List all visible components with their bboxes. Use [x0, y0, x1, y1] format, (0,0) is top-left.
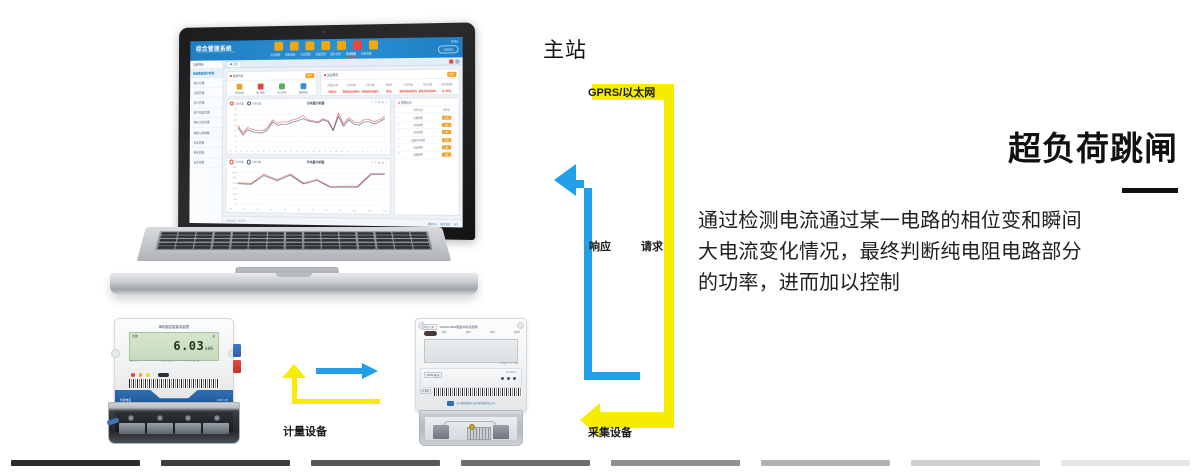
footer-link-2[interactable]: 关于	[454, 222, 459, 226]
sidebar-item-6[interactable]: 抄表管理	[190, 138, 222, 148]
bottom-gradient-bars	[0, 458, 1200, 468]
keyboard-key[interactable]	[194, 243, 211, 246]
col-index	[395, 107, 402, 114]
metering-arrow-svg	[268, 362, 388, 412]
home-button[interactable]: 回到首页	[438, 45, 458, 53]
keyboard-key[interactable]	[231, 239, 248, 242]
x-tick-label: 10	[230, 150, 232, 152]
keyboard-key[interactable]	[286, 239, 303, 242]
keyboard-key[interactable]	[268, 239, 285, 242]
screw-icon	[214, 415, 220, 421]
status-badge: 10条	[441, 115, 451, 119]
alert-table: 预警类型 预警值 1欠费预警10条2停电预警3条3窃电预警5条4设备异常预警20…	[395, 106, 459, 159]
keyboard-key[interactable]	[249, 239, 266, 242]
x-tick-label: 5月	[284, 209, 287, 212]
x-tick-label: 24	[307, 150, 309, 152]
x-tick-label: 6月	[297, 209, 300, 212]
tab-home[interactable]: 主页	[226, 61, 241, 67]
collector-kwh-label: K-2W	[420, 389, 431, 394]
table-row[interactable]: 2停电预警3条	[395, 121, 458, 129]
keyboard-key[interactable]	[250, 232, 267, 235]
master-station-label: 主站	[543, 34, 587, 64]
keyboard-key[interactable]	[232, 232, 249, 235]
keyboard-key[interactable]	[286, 246, 303, 249]
keyboard-key[interactable]	[160, 235, 177, 238]
x-tick-label: 8月	[325, 209, 328, 212]
row-value: 10条	[434, 113, 458, 121]
keyboard-key[interactable]	[321, 232, 338, 235]
row-index: 2	[395, 121, 402, 128]
terminal-lug	[175, 423, 201, 434]
header-user: 管理员	[438, 39, 458, 43]
stat-5: 月售电量 8520kWh	[418, 82, 437, 93]
legend-marker-icon	[229, 160, 233, 164]
infrared-port-icon	[158, 373, 169, 377]
keyboard-key[interactable]	[214, 232, 231, 235]
meter-reading-unit: kWh	[205, 346, 214, 351]
calendar-icon[interactable]	[306, 41, 315, 50]
stats-card-more-button[interactable]: 更多	[447, 71, 456, 76]
daily-chart-legend: 日用电量 日售电量	[229, 101, 261, 106]
keyboard-key[interactable]	[214, 235, 231, 238]
x-tick-label: 16	[263, 150, 265, 152]
row-type: 窃电预警	[402, 129, 434, 137]
keyboard-key[interactable]	[413, 243, 430, 246]
keyboard-key[interactable]	[249, 246, 266, 249]
collector-infrared-icon	[424, 331, 437, 336]
keyboard-key[interactable]	[304, 243, 321, 246]
x-tick-label: 26	[318, 150, 320, 152]
currency-icon[interactable]	[274, 42, 283, 51]
keyboard-key[interactable]	[268, 235, 285, 238]
row-type: 设备异常预警	[402, 136, 434, 144]
keyboard-key[interactable]	[322, 239, 339, 242]
keyboard-key[interactable]	[268, 232, 284, 235]
footer-link-0[interactable]: 帮助中心	[428, 221, 438, 225]
keyboard-key[interactable]	[195, 239, 212, 242]
y-tick-label: 300	[232, 172, 237, 174]
legend-item-1[interactable]: 日售电量	[247, 101, 262, 106]
gridline	[238, 204, 385, 206]
undo-icon[interactable]: ↺	[374, 101, 376, 104]
sidebar-item-7[interactable]: 费率管理	[190, 148, 222, 158]
laptop-illustration: 综合管理系统 COMPREHENSIVE MANAGEMENT SYSTEM	[108, 25, 480, 300]
yellow-request-arrow	[580, 84, 674, 437]
nav-item-6[interactable]: 系统管理	[361, 51, 371, 57]
keyboard-key[interactable]	[358, 239, 375, 242]
refresh-icon[interactable]	[455, 59, 459, 63]
meter-button-group	[233, 344, 241, 373]
quick-card-more-button[interactable]: 更多	[305, 73, 313, 78]
refresh-icon[interactable]: ↻	[371, 161, 373, 164]
status-badge: 5条	[442, 130, 451, 134]
dashboard-sidebar: 功能导航 基础数据维护管理 用户管理 台区管理 表计管理 客户档案管理 电价方案…	[189, 60, 223, 223]
y-tick-label: 35	[234, 108, 238, 110]
response-label: 响应	[589, 240, 603, 254]
monthly-chart-title: 月电量分析图	[306, 160, 324, 164]
pulse-led-icon	[139, 373, 143, 377]
keyboard-key[interactable]	[340, 235, 357, 238]
keyboard-key[interactable]	[339, 232, 356, 235]
export-icon[interactable]: ⇩	[385, 161, 387, 164]
meter-lcd: 当前 总 6.03kWh	[129, 332, 219, 361]
brand-logo-icon	[447, 401, 454, 406]
meter-shell: 单相费控智能电能表 当前 总 6.03kWh 本表符合 GB/T 17215.3…	[114, 318, 234, 406]
shortcut-3[interactable]: 数据报送	[299, 83, 308, 95]
footer-link-1[interactable]: 联系我们	[441, 221, 451, 225]
row-type: 停电预警	[402, 121, 434, 129]
quick-card-title: 快捷方式	[230, 74, 244, 78]
collector-module-panel: GPRS 模 块 信号指示灯	[420, 368, 522, 388]
terminal-lug	[147, 423, 173, 434]
keyboard-key[interactable]	[376, 243, 393, 246]
keyboard-key[interactable]	[286, 243, 303, 246]
meter-barcode	[129, 379, 219, 388]
keyboard-key[interactable]	[286, 235, 302, 238]
x-tick-label: 2	[357, 151, 358, 153]
x-tick-label: 13	[246, 150, 248, 152]
keyboard-key[interactable]	[231, 246, 248, 249]
keyboard-key[interactable]	[158, 243, 175, 246]
stat-0-value: 98%	[328, 88, 336, 93]
keyboard-key[interactable]	[161, 232, 178, 235]
x-tick-label: 11	[235, 150, 237, 152]
quick-access-card: 快捷方式 更多 常用功能	[226, 70, 317, 96]
body-line-2: 的功率，进而加以控制	[698, 268, 1168, 299]
meter-screw-row	[117, 415, 231, 421]
legend-item-0[interactable]: 月用电量	[229, 160, 243, 165]
x-tick-label: 4	[367, 151, 368, 153]
keyboard-key[interactable]	[176, 243, 193, 246]
meter-lcd-label: 当前	[132, 334, 138, 338]
tab-tools	[449, 59, 459, 63]
shortcut-1-label: 客户服务	[256, 90, 265, 94]
keyboard-key[interactable]	[322, 243, 339, 246]
shortcut-1[interactable]: 客户服务	[256, 83, 265, 94]
keyboard-key[interactable]	[178, 235, 195, 238]
alert-table-body: 1欠费预警10条2停电预警3条3窃电预警5条4设备异常预警20条5过载预警2条6…	[395, 113, 459, 158]
bottom-bar	[761, 460, 890, 466]
stat-2-value: 4540kWh	[361, 88, 378, 93]
keyboard-key[interactable]	[377, 246, 394, 249]
header-nav: 营业收费 数据采集 日常管理 表箱管理 统计分析 基础数据 系统管理	[270, 51, 371, 58]
bottom-bar	[311, 460, 440, 466]
channel-label-1: 通道二	[466, 331, 472, 334]
gridline	[238, 183, 385, 184]
stat-3-value: 5%	[386, 88, 392, 93]
table-row[interactable]: 1欠费预警10条	[395, 113, 458, 121]
collector-barcode	[434, 388, 522, 396]
keyboard-key[interactable]	[322, 235, 339, 238]
keyboard-key[interactable]	[196, 235, 213, 238]
keyboard-key[interactable]	[340, 239, 357, 242]
x-tick-label: 27	[324, 151, 326, 153]
daily-chart-title: 日电量分析图	[307, 101, 325, 105]
stats-card-title: 运营概况	[324, 73, 339, 77]
bottom-bar-cell	[1050, 458, 1200, 468]
keyboard-key[interactable]	[395, 243, 412, 246]
footer-center-text: 技术支持：XXXXX	[226, 218, 245, 222]
collector-terminal-inner	[425, 417, 517, 440]
y-tick-label: 0	[235, 204, 237, 206]
keyboard-key[interactable]	[413, 246, 430, 249]
meter-lcd-unit: 总	[212, 334, 215, 338]
x-tick-label: 10月	[353, 210, 357, 213]
stat-3-label: 线损率	[386, 82, 393, 86]
gridline	[238, 108, 385, 109]
meter-terminal-block	[108, 402, 240, 444]
x-tick-label: 3月	[256, 208, 259, 211]
keyboard-key[interactable]	[358, 243, 375, 246]
bottom-bar-cell	[0, 458, 150, 468]
stat-6: 当月线损率 4.5%	[437, 82, 456, 93]
header-icon-group	[274, 40, 378, 51]
keyboard-key[interactable]	[410, 232, 427, 235]
currency-icon	[237, 83, 243, 89]
sidebar-item-2[interactable]: 表计管理	[190, 98, 222, 108]
phone-icon	[258, 83, 264, 89]
nav-item-3[interactable]: 表箱管理	[315, 52, 325, 58]
keyboard-key[interactable]	[232, 235, 249, 238]
row-value: 1条	[434, 151, 458, 159]
legend-item-0[interactable]: 日用电量	[229, 101, 243, 105]
x-tick-label: 19	[279, 150, 281, 152]
row-index: 3	[395, 129, 402, 136]
stat-1: 日用电量 5000kWh	[342, 83, 361, 94]
keyboard-key[interactable]	[357, 235, 374, 238]
shortcut-2[interactable]: 统计分析	[277, 83, 286, 94]
keyboard-row	[160, 235, 428, 238]
page-headline: 超负荷跳闸	[1008, 122, 1178, 170]
keyboard-key[interactable]	[157, 246, 174, 249]
footer-links: 帮助中心 联系我们 关于	[428, 221, 459, 226]
sidebar-item-8[interactable]: 业务管理	[190, 158, 222, 168]
dashboard-header: 综合管理系统 COMPREHENSIVE MANAGEMENT SYSTEM	[190, 37, 462, 61]
status-led-icon	[146, 373, 150, 377]
close-icon[interactable]	[449, 59, 453, 63]
keyboard-key[interactable]	[179, 232, 196, 235]
stat-5-label: 月售电量	[423, 82, 432, 86]
x-tick-label: 7月	[311, 209, 314, 212]
bar-icon[interactable]: ▩	[378, 161, 380, 164]
body-line-1: 大电流变化情况，最终判断纯电阻电路部分	[698, 237, 1168, 268]
gridline	[238, 199, 385, 201]
daily-chart-svg: 05101520253035	[230, 106, 387, 148]
nav-item-2[interactable]: 日常管理	[300, 52, 310, 58]
bottom-bar-cell	[450, 458, 600, 468]
settings-icon[interactable]	[369, 40, 378, 49]
series-line-1	[238, 174, 385, 188]
refresh-icon[interactable]: ↻	[371, 101, 373, 104]
legend-0-label: 月用电量	[234, 160, 243, 164]
table-row[interactable]: 4设备异常预警20条	[395, 136, 459, 144]
keyboard-key[interactable]	[304, 239, 321, 242]
legend-item-1[interactable]: 月售电量	[246, 160, 261, 165]
gridline	[238, 172, 385, 173]
chart-icon	[279, 83, 285, 89]
mail-icon[interactable]	[353, 41, 362, 50]
keyboard-key[interactable]	[393, 235, 410, 238]
table-row[interactable]: 6表箱预警1条	[395, 151, 459, 159]
row-index: 6	[395, 151, 402, 159]
row-value: 5条	[434, 129, 458, 137]
y-tick-label: 350	[232, 167, 237, 169]
y-tick-label: 20	[234, 125, 238, 127]
x-tick-label: 17	[268, 150, 270, 152]
row-type: 欠费预警	[402, 114, 434, 122]
keyboard-key[interactable]	[394, 239, 411, 242]
channel-label-3: 通道四	[514, 331, 520, 334]
x-tick-label: 3	[362, 151, 363, 153]
keyboard-key[interactable]	[304, 232, 320, 235]
keyboard-key[interactable]	[357, 232, 374, 235]
keyboard-key[interactable]	[196, 232, 213, 235]
nav-item-0[interactable]: 营业收费	[270, 53, 280, 59]
keyboard-key[interactable]	[376, 239, 393, 242]
electric-meter-illustration: 单相费控智能电能表 当前 总 6.03kWh 本表符合 GB/T 17215.3…	[108, 318, 240, 446]
keyboard-key[interactable]	[250, 235, 267, 238]
legend-0-label: 日用电量	[235, 101, 244, 105]
meter-body: 单相费控智能电能表 当前 总 6.03kWh 本表符合 GB/T 17215.3…	[108, 318, 240, 446]
keyboard-key[interactable]	[267, 243, 284, 246]
row-type: 表箱预警	[402, 151, 434, 159]
nav-item-1[interactable]: 数据采集	[285, 53, 295, 59]
keyboard-key[interactable]	[304, 235, 321, 238]
sidebar-item-1[interactable]: 台区管理	[190, 88, 222, 98]
keyboard-key[interactable]	[213, 243, 230, 246]
keyboard-key[interactable]	[194, 246, 211, 249]
indicator-led-icon	[501, 377, 504, 380]
series-line-1	[238, 116, 385, 135]
bottom-bar-cell	[300, 458, 450, 468]
nav-item-4[interactable]: 统计分析	[331, 52, 341, 58]
gridline	[238, 188, 385, 190]
keyboard-key[interactable]	[395, 246, 412, 249]
status-badge: 1条	[442, 153, 451, 157]
keyboard-key[interactable]	[411, 235, 428, 238]
nav-item-5[interactable]: 基础数据	[346, 52, 356, 58]
x-tick-label: 28	[330, 151, 332, 153]
shortcut-0[interactable]: 常用功能	[235, 83, 244, 94]
metering-flow-arrows	[268, 362, 388, 412]
monthly-chart-plot: 050100150200250300350	[229, 165, 386, 208]
meter-led-group	[131, 373, 169, 377]
keyboard-key[interactable]	[213, 239, 230, 242]
stat-2: 日售电量 4540kWh	[361, 83, 380, 94]
keyboard-key[interactable]	[159, 239, 176, 242]
keyboard-key[interactable]	[267, 246, 284, 249]
edit-icon[interactable]	[290, 42, 299, 51]
clock-icon[interactable]	[337, 41, 346, 50]
keyboard-key[interactable]	[359, 246, 376, 249]
keyboard-key[interactable]	[412, 239, 429, 242]
sidebar-item-3[interactable]: 客户档案管理	[190, 108, 222, 118]
database-icon[interactable]	[321, 41, 330, 50]
collector-device-illustration: 电力专用 HXGW-3300型集中抄表终端 通道一 通道二 通道三 通道四 产品…	[415, 318, 527, 446]
legend-marker-icon	[229, 101, 233, 105]
legend-marker-icon	[247, 101, 251, 105]
row-value: 20条	[434, 136, 458, 144]
x-tick-label: 9月	[339, 209, 342, 212]
keyboard-key[interactable]	[286, 232, 302, 235]
keyboard-key[interactable]	[175, 246, 192, 249]
keyboard-key[interactable]	[304, 246, 321, 249]
meter-reset-button[interactable]	[233, 360, 241, 373]
pie-icon[interactable]: ◉	[382, 161, 384, 164]
export-icon[interactable]: ⇩	[385, 101, 387, 104]
x-tick-label: 22	[296, 150, 298, 152]
bottom-bar-cell	[600, 458, 750, 468]
table-row[interactable]: 3窃电预警5条	[395, 129, 458, 137]
x-tick-label: 14	[251, 150, 253, 152]
row-value: 3条	[434, 121, 458, 129]
collector-device-label: 采集设备	[588, 424, 632, 440]
x-tick-label: 20	[285, 150, 287, 152]
upload-icon	[300, 83, 306, 89]
keyboard-key[interactable]	[177, 239, 194, 242]
alert-table-card: 预警信息 预警类型 预警值 1欠费预警10条2停电预警3条3窃电预警5条4设	[394, 97, 460, 216]
stat-4-value: 9000kWh	[399, 88, 417, 93]
collector-lcd	[424, 339, 518, 363]
keyboard-key[interactable]	[340, 246, 357, 249]
keyboard-key[interactable]	[322, 246, 339, 249]
content-row-top: 快捷方式 更多 常用功能	[226, 69, 459, 97]
x-tick-label: 23	[302, 150, 304, 152]
laptop-screen: 综合管理系统 COMPREHENSIVE MANAGEMENT SYSTEM	[189, 37, 462, 228]
gridline	[238, 167, 385, 168]
x-tick-label: 30	[341, 151, 343, 153]
keyboard-key[interactable]	[212, 246, 229, 249]
keyboard-key[interactable]	[231, 243, 248, 246]
undo-icon[interactable]: ↺	[374, 161, 376, 164]
y-tick-label: 200	[232, 183, 237, 185]
sidebar-current-group[interactable]: 基础数据维护管理	[190, 69, 222, 78]
meter-reading: 6.03	[173, 339, 204, 353]
keyboard-key[interactable]	[249, 243, 266, 246]
bottom-bar	[11, 460, 140, 466]
gridline	[238, 194, 385, 196]
meter-display-button[interactable]	[233, 344, 241, 357]
diagram-canvas: 综合管理系统 COMPREHENSIVE MANAGEMENT SYSTEM	[0, 0, 1200, 475]
collector-tag: 电力专用	[422, 324, 437, 330]
sidebar-item-5[interactable]: 电能公用参数	[190, 128, 222, 138]
keyboard-key[interactable]	[393, 232, 410, 235]
stat-1-label: 日用电量	[347, 83, 356, 87]
keyboard-key[interactable]	[375, 235, 392, 238]
sidebar-item-0[interactable]: 用户管理	[190, 78, 222, 88]
monthly-chart-tools: ↻ ↺ ▩ ◉ ⇩	[371, 161, 388, 164]
y-tick-label: 150	[232, 188, 237, 190]
col-value: 预警值	[434, 106, 458, 113]
stat-list: 计费成功率 98% 日用电量 5000kWh	[321, 79, 458, 94]
collector-terminal-block	[419, 410, 523, 446]
x-tick-label: 25	[313, 150, 315, 152]
monthly-chart-legend: 月用电量 月售电量	[229, 160, 261, 165]
shortcut-list: 常用功能 客户服务	[227, 80, 316, 95]
sidebar-item-4[interactable]: 电价方案管理	[190, 118, 222, 128]
channel-label-2: 通道三	[490, 331, 496, 334]
pie-icon[interactable]: ◉	[382, 101, 384, 104]
keyboard-key[interactable]	[375, 232, 392, 235]
link-type-label: GPRS/以太网	[588, 84, 655, 100]
collector-lcd-note: 产品编号 / 出厂日期	[424, 362, 518, 367]
series-line-0	[238, 172, 385, 187]
bar-icon[interactable]: ▩	[378, 101, 380, 104]
blue-right-arrow	[316, 363, 378, 379]
bottom-bar	[611, 460, 740, 466]
daily-energy-chart: 日用电量 日售电量 日电量分析图 ↻ ↺ ▩	[226, 98, 391, 155]
keyboard-key[interactable]	[340, 243, 357, 246]
